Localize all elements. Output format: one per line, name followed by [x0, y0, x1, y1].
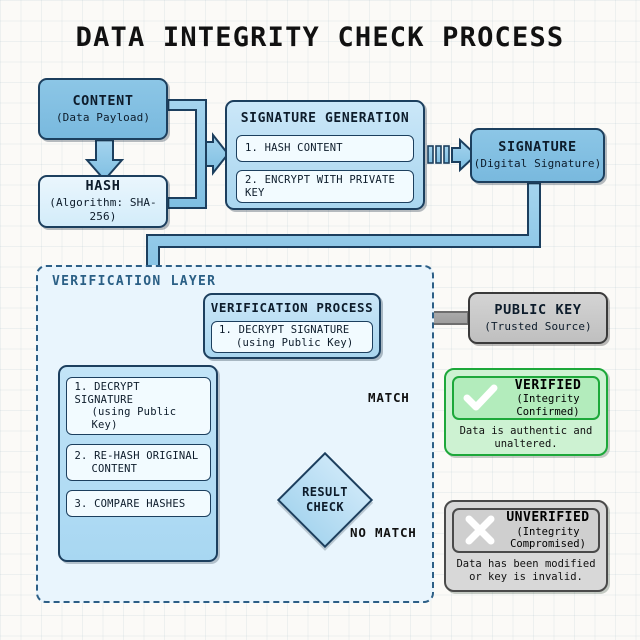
verification-layer-label: VERIFICATION LAYER [52, 274, 216, 289]
verification-process-step-1[interactable]: 1. DECRYPT SIGNATURE (using Public Key) [211, 321, 373, 353]
result-check-line1: RESULT [302, 485, 348, 500]
check-icon [460, 378, 500, 418]
verification-step-2-line1: 2. RE-HASH ORIGINAL [75, 450, 199, 463]
verified-note: Data is authentic and unaltered. [460, 425, 593, 451]
verification-step-3-line1: 3. COMPARE HASHES [75, 498, 186, 511]
verification-step-2-line2: CONTENT [75, 463, 199, 476]
connector-label-match: MATCH [368, 390, 410, 405]
vproc-step-line2: (using Public Key) [219, 337, 353, 350]
verification-step-1-line2: (using Public Key) [75, 406, 202, 431]
node-hash-subtitle: (Algorithm: SHA-256) [40, 196, 166, 225]
verification-steps-panel: 1. DECRYPT SIGNATURE (using Public Key) … [58, 365, 218, 562]
cross-icon [460, 510, 500, 550]
arrow-content-to-siggen [168, 100, 228, 208]
unverified-title: UNVERIFIED [504, 510, 592, 525]
connector-label-no-match: NO MATCH [350, 525, 417, 540]
node-content-subtitle: (Data Payload) [56, 111, 150, 125]
verified-text: VERIFIED (Integrity Confirmed) [504, 378, 592, 418]
node-hash[interactable]: HASH (Algorithm: SHA-256) [38, 175, 168, 228]
node-signature-generation-title: SIGNATURE GENERATION [241, 111, 410, 127]
node-unverified[interactable]: UNVERIFIED (Integrity Compromised) Data … [444, 500, 608, 592]
node-signature-generation[interactable]: SIGNATURE GENERATION 1. HASH CONTENT 2. … [225, 100, 425, 210]
node-signature-title: SIGNATURE [498, 139, 577, 156]
node-verification-process-title: VERIFICATION PROCESS [211, 300, 374, 316]
unverified-note-line2: or key is invalid. [456, 571, 595, 584]
result-check-line2: CHECK [306, 500, 344, 515]
unverified-sub-line1: (Integrity [504, 526, 592, 538]
node-signature[interactable]: SIGNATURE (Digital Signature) [470, 128, 605, 183]
node-hash-title: HASH [86, 178, 121, 195]
node-verification-process[interactable]: VERIFICATION PROCESS 1. DECRYPT SIGNATUR… [203, 293, 381, 359]
verified-title: VERIFIED [504, 378, 592, 393]
verified-note-line2: unaltered. [460, 438, 593, 451]
verified-note-line1: Data is authentic and [460, 425, 593, 438]
vproc-step-line1: 1. DECRYPT SIGNATURE [219, 324, 349, 337]
node-content-title: CONTENT [72, 93, 133, 110]
node-public-key[interactable]: PUBLIC KEY (Trusted Source) [468, 292, 608, 344]
siggen-step-1[interactable]: 1. HASH CONTENT [236, 135, 414, 162]
unverified-note-line1: Data has been modified [456, 558, 595, 571]
unverified-inner: UNVERIFIED (Integrity Compromised) [452, 508, 600, 553]
unverified-sub-line2: Compromised) [504, 538, 592, 550]
siggen-step-2[interactable]: 2. ENCRYPT WITH PRIVATE KEY [236, 170, 414, 203]
unverified-text: UNVERIFIED (Integrity Compromised) [504, 510, 592, 550]
arrow-siggen-to-signature [428, 140, 476, 170]
arrow-content-to-hash [87, 140, 122, 180]
verification-step-1[interactable]: 1. DECRYPT SIGNATURE (using Public Key) [66, 377, 211, 435]
node-verified[interactable]: VERIFIED (Integrity Confirmed) Data is a… [444, 368, 608, 456]
verified-sub-line1: (Integrity [504, 393, 592, 405]
unverified-note: Data has been modified or key is invalid… [456, 558, 595, 584]
node-public-key-title: PUBLIC KEY [494, 302, 581, 319]
verification-step-1-line1: 1. DECRYPT SIGNATURE [75, 381, 202, 406]
verified-inner: VERIFIED (Integrity Confirmed) [452, 376, 600, 420]
node-signature-subtitle: (Digital Signature) [474, 157, 602, 171]
page-title: DATA INTEGRITY CHECK PROCESS [0, 22, 640, 53]
node-public-key-subtitle: (Trusted Source) [484, 320, 592, 334]
verified-sub-line2: Confirmed) [504, 406, 592, 418]
verification-step-2[interactable]: 2. RE-HASH ORIGINAL CONTENT [66, 444, 211, 481]
diagram-canvas: DATA INTEGRITY CHECK PROCESS VERIFICATIO… [0, 0, 640, 640]
node-content[interactable]: CONTENT (Data Payload) [38, 78, 168, 140]
verification-step-3[interactable]: 3. COMPARE HASHES [66, 490, 211, 517]
